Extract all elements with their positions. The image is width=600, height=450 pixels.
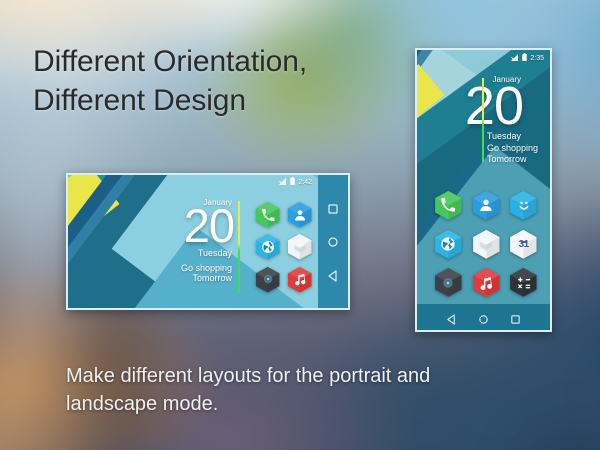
status-bar-time: 2:42 (298, 179, 312, 186)
portrait-device-preview[interactable]: 2:35 January 20 Tuesday Go shopping Tomo… (415, 48, 552, 332)
app-icon-messaging[interactable] (508, 190, 539, 221)
battery-icon (522, 53, 527, 63)
home-button[interactable] (327, 235, 339, 247)
landscape-screen: 2:42 January 20 Tuesday Go shopping Tomo… (68, 175, 348, 308)
app-icon-browser[interactable] (254, 233, 281, 260)
app-icon-camera[interactable] (433, 267, 464, 298)
recents-button[interactable] (510, 312, 521, 323)
caption-text: Make different layouts for the portrait … (66, 362, 546, 419)
landscape-screen-content: 2:42 January 20 Tuesday Go shopping Tomo… (68, 175, 318, 308)
circle-icon (327, 235, 339, 247)
status-bar-time: 2:35 (530, 55, 544, 62)
app-icon-phone[interactable] (433, 190, 464, 221)
app-icon-contacts[interactable] (286, 201, 313, 228)
square-icon (327, 202, 339, 214)
widget-accent-rule (482, 78, 484, 162)
app-icon-files[interactable] (471, 229, 502, 260)
landscape-app-grid: 31 (254, 201, 318, 293)
recents-button[interactable] (327, 202, 339, 214)
portrait-nav-bar (417, 304, 550, 330)
app-icon-camera[interactable] (254, 266, 281, 293)
app-icon-phone[interactable] (254, 201, 281, 228)
battery-icon (290, 177, 295, 187)
app-icon-calendar[interactable]: 31 (508, 229, 539, 260)
back-button[interactable] (446, 312, 457, 323)
app-icon-browser[interactable] (433, 229, 464, 260)
portrait-app-grid: 31 (433, 190, 539, 298)
widget-event: Go shopping Tomorrow (146, 263, 238, 284)
back-button[interactable] (327, 269, 339, 281)
landscape-device-preview[interactable]: 2:42 January 20 Tuesday Go shopping Tomo… (66, 173, 350, 310)
app-icon-music[interactable] (471, 267, 502, 298)
page-title: Different Orientation, Different Design (33, 42, 453, 120)
home-button[interactable] (478, 312, 489, 323)
widget-day: 20 (146, 207, 238, 246)
portrait-clock-widget[interactable]: January 20 Tuesday (417, 76, 527, 141)
landscape-status-bar: 2:42 (279, 177, 312, 187)
widget-event: Go shopping Tomorrow (487, 143, 550, 165)
portrait-status-bar: 2:35 (511, 53, 544, 63)
signal-icon (279, 178, 287, 187)
portrait-screen: 2:35 January 20 Tuesday Go shopping Tomo… (417, 50, 550, 330)
widget-day: 20 (417, 84, 527, 128)
triangle-left-icon (327, 269, 339, 281)
widget-accent-rule (238, 201, 240, 293)
app-icon-music[interactable] (286, 266, 313, 293)
signal-icon (511, 54, 519, 63)
landscape-clock-widget[interactable]: January 20 Tuesday Go shopping Tomorrow (146, 199, 238, 283)
square-icon (510, 312, 521, 323)
circle-icon (478, 312, 489, 323)
app-icon-files[interactable] (286, 233, 313, 260)
app-icon-calculator[interactable] (508, 267, 539, 298)
portrait-screen-content: 2:35 January 20 Tuesday Go shopping Tomo… (417, 50, 550, 304)
triangle-left-icon (446, 312, 457, 323)
app-icon-contacts[interactable] (471, 190, 502, 221)
landscape-nav-bar (318, 175, 348, 308)
